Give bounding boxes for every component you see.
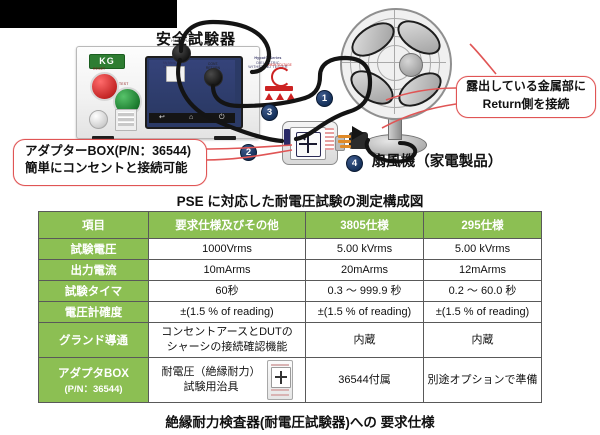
table-cell: 5.00 kVrms — [306, 239, 424, 260]
table-row: 電圧計確度±(1.5 % of reading)±(1.5 % of readi… — [39, 302, 542, 323]
cell-content: ±(1.5 % of reading) — [309, 305, 420, 320]
row-header: グランド導通 — [39, 323, 149, 358]
table-cell: 10mArms — [149, 260, 306, 281]
callout-adapter-line2: 簡単にコンセントと接続可能 — [14, 160, 206, 177]
callout-adapter-line1: アダプターBOX(P/N：36544) — [14, 143, 206, 160]
col-header-requirement: 要求仕様及びその他 — [149, 212, 306, 239]
cell-content: 0.2 ～ 60.0 秒 — [427, 284, 538, 299]
table-cell: ±(1.5 % of reading) — [424, 302, 542, 323]
cell-text: 5.00 kVrms — [337, 242, 392, 257]
col-header-3805: 3805仕様 — [306, 212, 424, 239]
cell-text: 内蔵 — [354, 333, 376, 348]
col-header-295: 295仕様 — [424, 212, 542, 239]
row-header: 試験タイマ — [39, 281, 149, 302]
table-caption: 絶縁耐力検査器(耐電圧試験器)への 要求仕様 — [60, 411, 540, 431]
table-header-row: 項目 要求仕様及びその他 3805仕様 295仕様 — [39, 212, 542, 239]
cell-text: 耐電圧（絶縁耐力）試験用治具 — [162, 365, 261, 395]
row-header: アダプタBOX(P/N：36544) — [39, 358, 149, 403]
table-cell: コンセントアースとDUTのシャーシの接続確認機能 — [149, 323, 306, 358]
table-cell: 内蔵 — [424, 323, 542, 358]
table-row: アダプタBOX(P/N：36544)耐電圧（絶縁耐力）試験用治具36544付属別… — [39, 358, 542, 403]
table-cell: 別途オプションで準備 — [424, 358, 542, 403]
cell-content: 別途オプションで準備 — [427, 373, 538, 388]
cell-content: 10mArms — [152, 263, 302, 278]
table-cell: 5.00 kVrms — [424, 239, 542, 260]
cell-content: 20mArms — [309, 263, 420, 278]
callout-return-line2: Return側を接続 — [457, 95, 595, 113]
table-cell: ±(1.5 % of reading) — [306, 302, 424, 323]
table-cell: 0.2 ～ 60.0 秒 — [424, 281, 542, 302]
cell-content: 内蔵 — [309, 333, 420, 348]
cell-text: 12mArms — [459, 263, 506, 278]
table-cell: 0.3 ～ 999.9 秒 — [306, 281, 424, 302]
table-cell: 12mArms — [424, 260, 542, 281]
cell-text: 0.2 ～ 60.0 秒 — [449, 284, 517, 299]
row-header: 電圧計確度 — [39, 302, 149, 323]
table-cell: 耐電圧（絶縁耐力）試験用治具 — [149, 358, 306, 403]
table-row: 出力電流10mArms20mArms12mArms — [39, 260, 542, 281]
callout-return-connection: 露出している金属部に Return側を接続 — [456, 76, 596, 118]
cell-text: ±(1.5 % of reading) — [180, 305, 273, 320]
table-cell: 36544付属 — [306, 358, 424, 403]
specification-table: 項目 要求仕様及びその他 3805仕様 295仕様 試験電圧1000Vrms5.… — [38, 211, 542, 403]
cell-content: 12mArms — [427, 263, 538, 278]
cell-text: ±(1.5 % of reading) — [318, 305, 411, 320]
table-cell: 20mArms — [306, 260, 424, 281]
row-header: 出力電流 — [39, 260, 149, 281]
cell-content: ±(1.5 % of reading) — [152, 305, 302, 320]
fan-label: 扇風機（家電製品） — [352, 150, 522, 171]
cell-text: 別途オプションで準備 — [428, 373, 538, 388]
adapter-box-thumbnail — [267, 360, 293, 400]
row-header: 試験電圧 — [39, 239, 149, 260]
table-row: 試験タイマ60秒0.3 ～ 999.9 秒0.2 ～ 60.0 秒 — [39, 281, 542, 302]
cell-text: 5.00 kVrms — [455, 242, 510, 257]
cell-content: 36544付属 — [309, 373, 420, 388]
cell-text: 10mArms — [203, 263, 250, 278]
callout-adapter-box: アダプターBOX(P/N：36544) 簡単にコンセントと接続可能 — [13, 139, 207, 186]
table-cell: 60秒 — [149, 281, 306, 302]
table-row: グランド導通コンセントアースとDUTのシャーシの接続確認機能内蔵内蔵 — [39, 323, 542, 358]
cell-content: 60秒 — [152, 284, 302, 299]
cell-content: 0.3 ～ 999.9 秒 — [309, 284, 420, 299]
cell-text: 60秒 — [215, 284, 238, 299]
diagram-caption: PSE に対応した耐電圧試験の測定構成図 — [60, 190, 540, 210]
cell-text: 1000Vrms — [202, 242, 252, 257]
row-header-sub: (P/N：36544) — [42, 381, 145, 395]
cell-content: コンセントアースとDUTのシャーシの接続確認機能 — [152, 325, 302, 355]
table-cell: ±(1.5 % of reading) — [149, 302, 306, 323]
cell-content: 耐電圧（絶縁耐力）試験用治具 — [152, 360, 302, 400]
cell-content: 内蔵 — [427, 333, 538, 348]
callout-return-line1: 露出している金属部に — [457, 77, 595, 95]
cell-content: 5.00 kVrms — [309, 242, 420, 257]
table-cell: 1000Vrms — [149, 239, 306, 260]
cell-text: 20mArms — [341, 263, 388, 278]
cell-text: 0.3 ～ 999.9 秒 — [328, 284, 402, 299]
cell-text: 内蔵 — [472, 333, 494, 348]
cell-text: ±(1.5 % of reading) — [436, 305, 529, 320]
cell-text: コンセントアースとDUTのシャーシの接続確認機能 — [161, 325, 292, 355]
table-cell: 内蔵 — [306, 323, 424, 358]
cell-text: 36544付属 — [338, 373, 391, 388]
col-header-item: 項目 — [39, 212, 149, 239]
table-row: 試験電圧1000Vrms5.00 kVrms5.00 kVrms — [39, 239, 542, 260]
cell-content: 1000Vrms — [152, 242, 302, 257]
cell-content: ±(1.5 % of reading) — [427, 305, 538, 320]
cell-content: 5.00 kVrms — [427, 242, 538, 257]
